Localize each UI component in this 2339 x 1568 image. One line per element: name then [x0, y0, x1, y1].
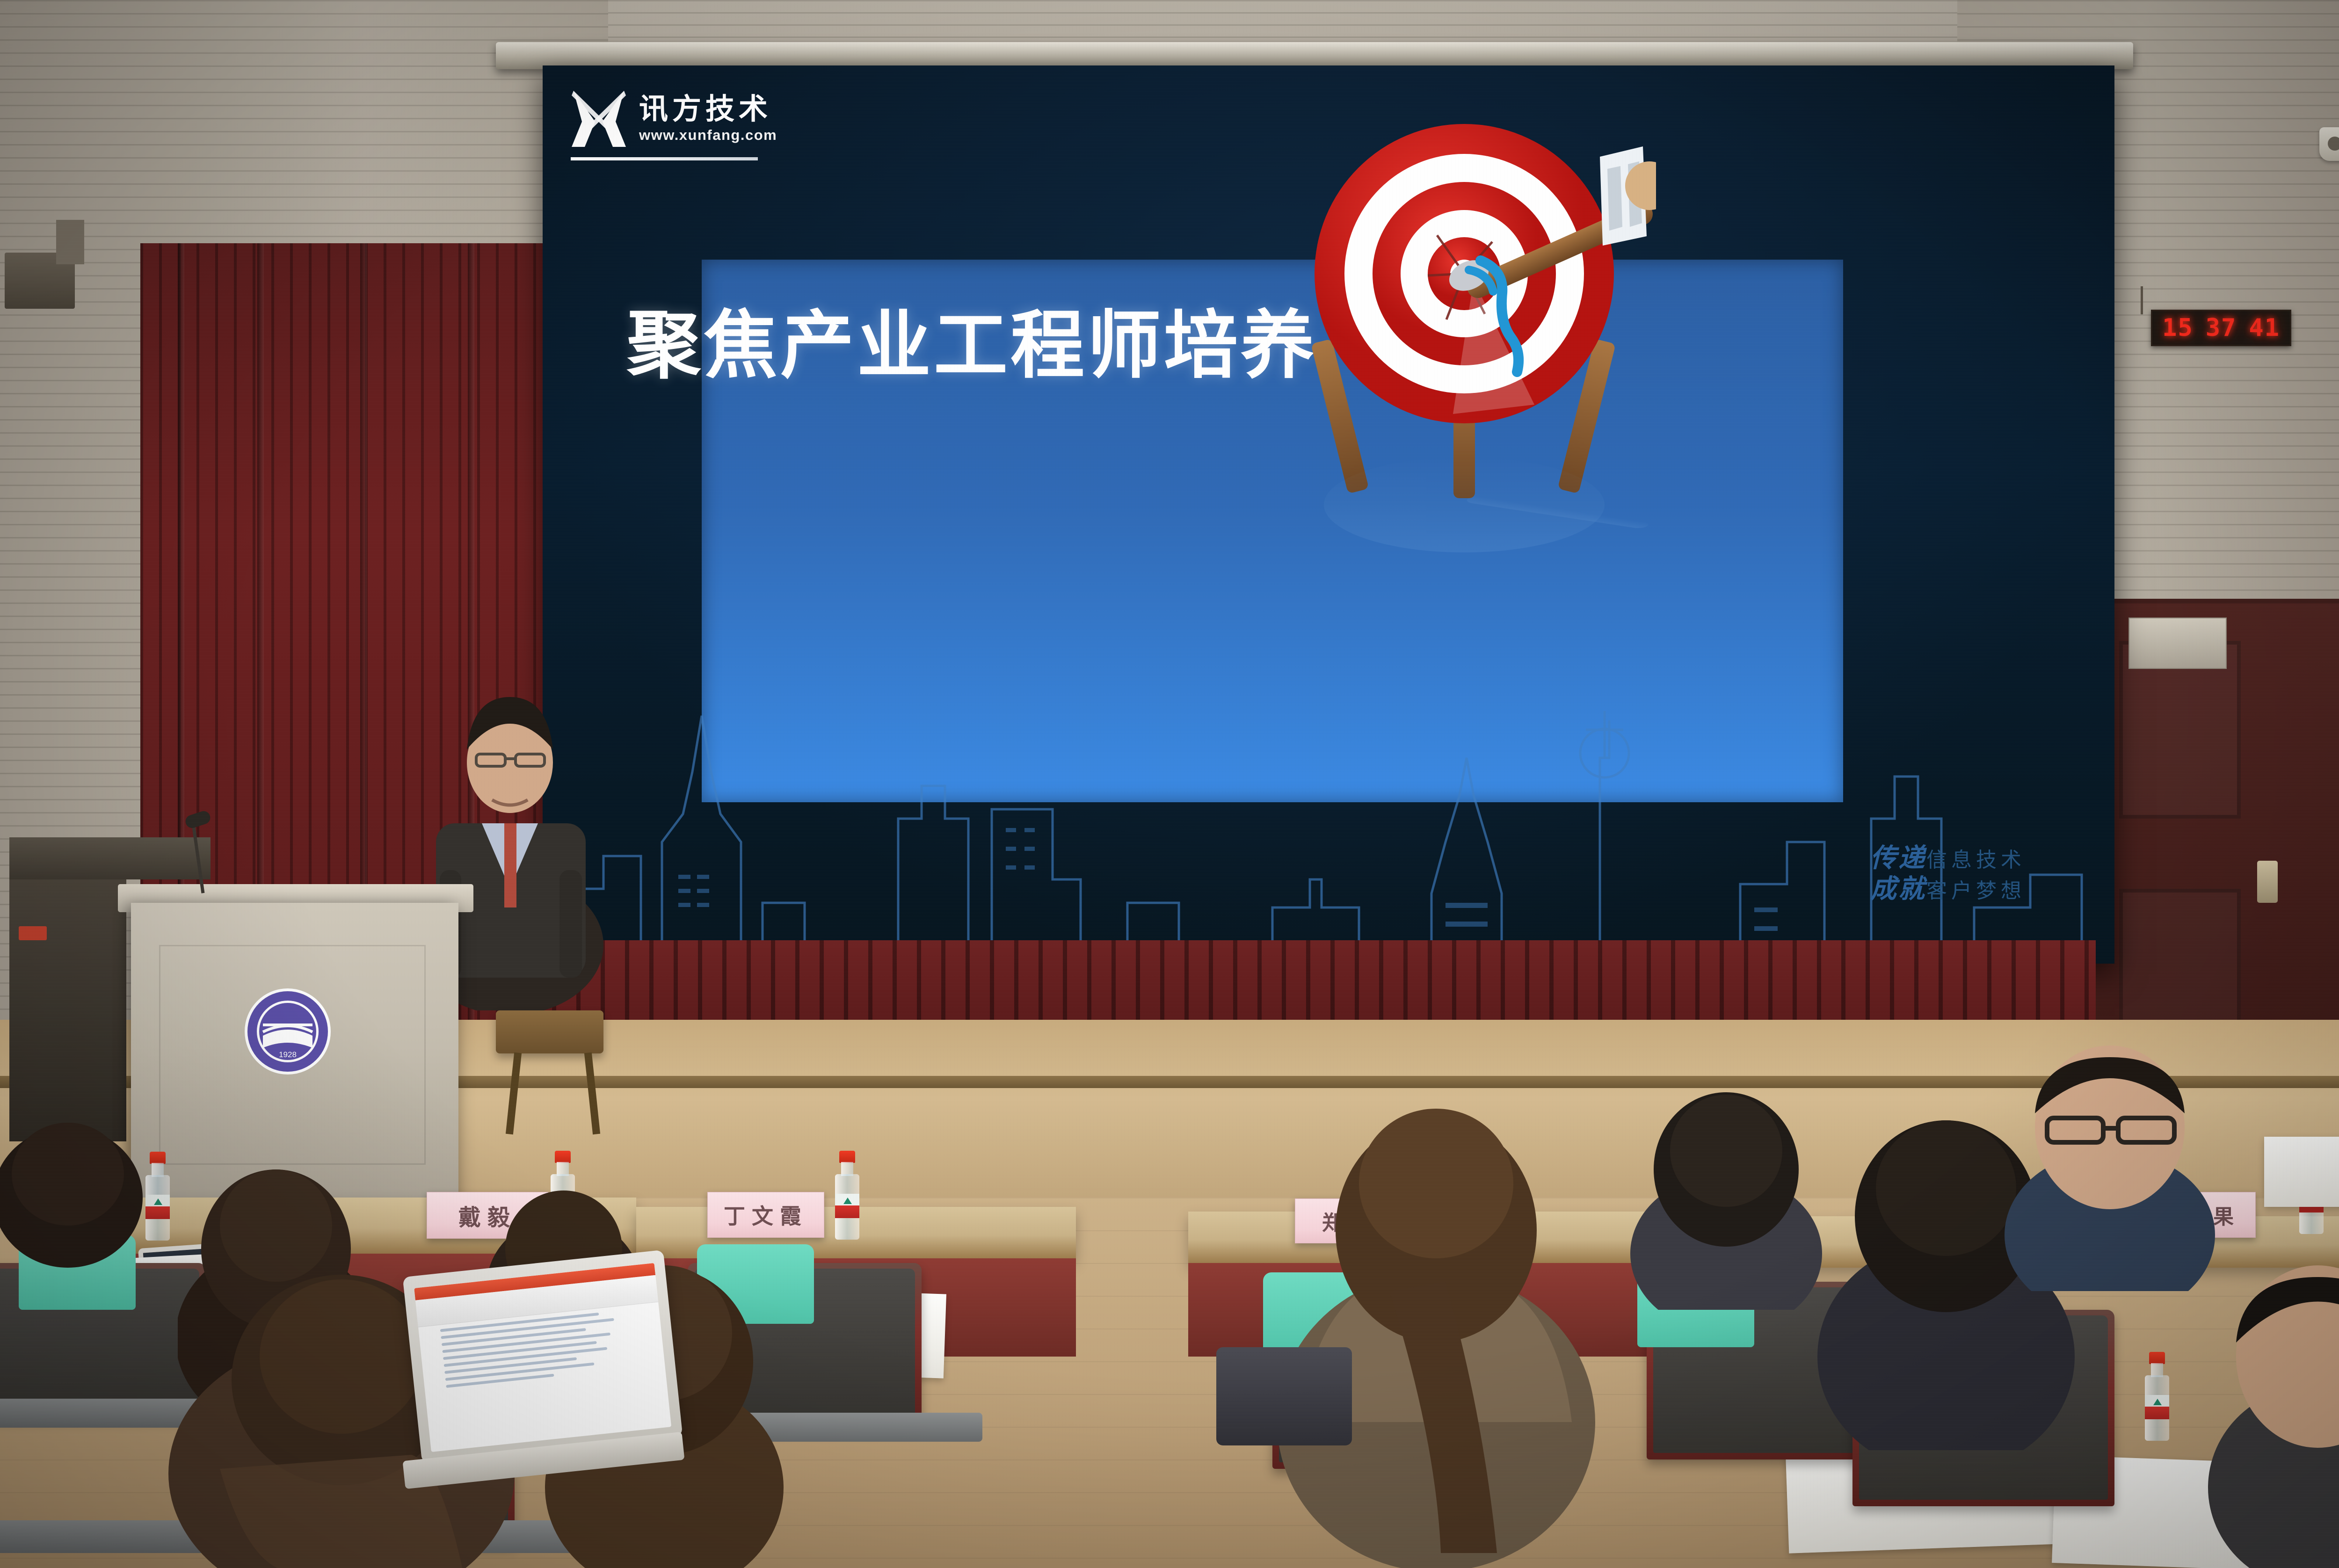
- ceiling-speaker-icon: [2319, 127, 2339, 161]
- tagline-1-light: 信息技术: [1926, 848, 2026, 872]
- audience-person: [1628, 1076, 1824, 1310]
- cabinet-indicator-light: [19, 926, 47, 940]
- water-bottle: [833, 1151, 862, 1240]
- wall-fixture-small: [56, 220, 84, 264]
- clock-minutes: 37: [2206, 314, 2237, 342]
- handbag: [1216, 1347, 1352, 1445]
- clock-seconds: 41: [2249, 314, 2280, 342]
- laptop[interactable]: [403, 1250, 683, 1463]
- door-handle-icon[interactable]: [2257, 861, 2278, 903]
- placard-2: 丁文霞: [707, 1192, 824, 1238]
- water-bottle: [2143, 1352, 2172, 1441]
- city-skyline-graphic: [543, 702, 2114, 964]
- university-crest-icon: 1928: [243, 987, 332, 1076]
- lecture-hall-scene: 讯方技术 www.xunfang.com 聚焦产业工程师培养: [0, 0, 2339, 1568]
- archery-target-icon: [1272, 87, 1656, 582]
- wooden-stool: [496, 1010, 603, 1053]
- water-bottle: [143, 1152, 172, 1241]
- tagline-2-bold: 成就: [1870, 874, 1926, 904]
- tagline-2-light: 客户梦想: [1926, 879, 2026, 903]
- paper-stack: [2264, 1137, 2339, 1207]
- audience-person: [1272, 1067, 1600, 1568]
- clock-cable: [2141, 286, 2143, 314]
- audience-person: [2208, 1226, 2339, 1568]
- clock-hours: 15: [2162, 314, 2194, 342]
- xunfang-mark-icon: [571, 89, 627, 149]
- av-cabinet: [9, 879, 126, 1141]
- xunfang-logo: 讯方技术 www.xunfang.com: [571, 89, 777, 149]
- audience-person: [2002, 1029, 2217, 1291]
- laptop-screen: [414, 1263, 671, 1452]
- projection-screen: 讯方技术 www.xunfang.com 聚焦产业工程师培养: [543, 65, 2114, 964]
- brand-name-cn: 讯方技术: [639, 94, 772, 123]
- brand-website: www.xunfang.com: [639, 127, 777, 144]
- side-table: [9, 837, 211, 879]
- led-wall-clock: 15 37 41: [2151, 310, 2291, 346]
- slide-title: 聚焦产业工程师培养: [627, 285, 1317, 392]
- crest-year: 1928: [279, 1050, 297, 1059]
- logo-underline: [571, 157, 758, 160]
- tagline-1-bold: 传递: [1870, 843, 1926, 873]
- slide-tagline: 传递信息技术 成就客户梦想: [1870, 843, 2026, 905]
- audience-person: [0, 1113, 145, 1268]
- wall-vent: [2128, 617, 2227, 669]
